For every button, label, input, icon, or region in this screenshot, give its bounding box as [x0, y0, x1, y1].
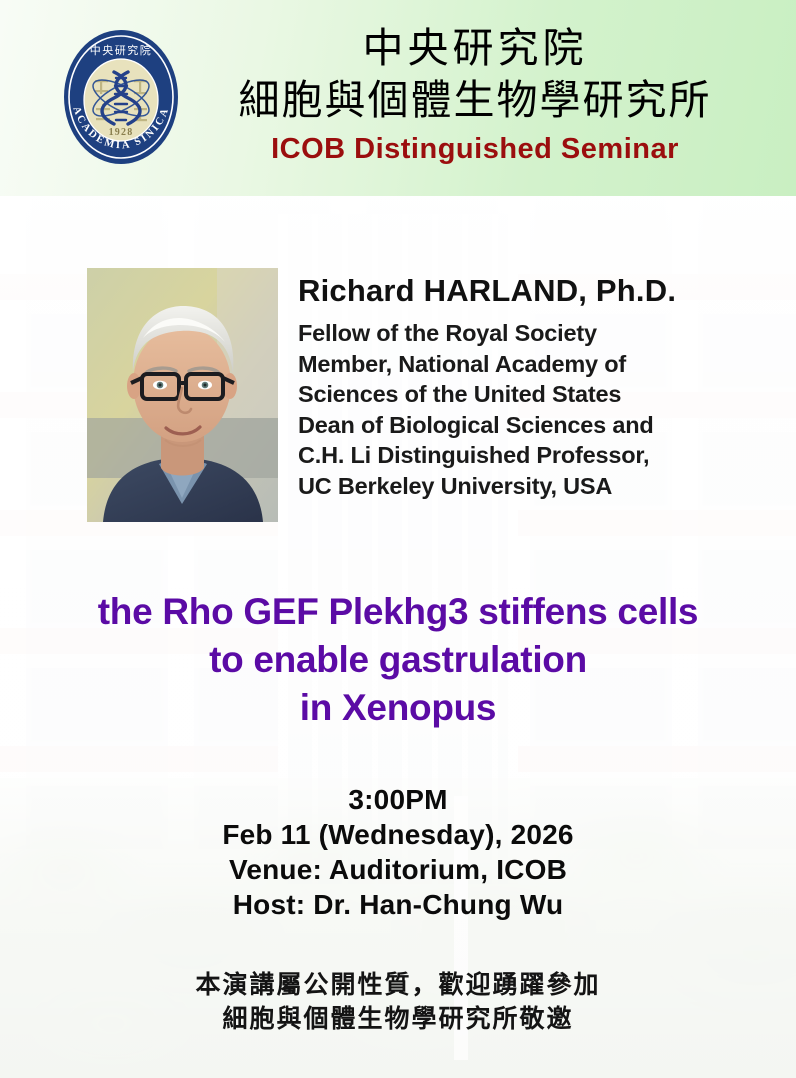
speaker-affiliation-line: C.H. Li Distinguished Professor,: [298, 440, 768, 471]
svg-text:1928: 1928: [109, 127, 134, 138]
speaker-portrait-photo: [87, 268, 278, 522]
talk-title-line: in Xenopus: [0, 684, 796, 732]
speaker-name: Richard HARLAND, Ph.D.: [298, 272, 768, 310]
institution-name-cn-line1: 中央研究院: [195, 22, 755, 74]
svg-text:中央研究院: 中央研究院: [90, 43, 153, 57]
event-venue: Venue: Auditorium, ICOB: [0, 852, 796, 887]
seminar-poster: 1928 中央研究院 ACADEMIA SINICA 中央研究院 細胞與個體生物…: [0, 0, 796, 1078]
academia-sinica-logo-icon: 1928 中央研究院 ACADEMIA SINICA: [62, 28, 180, 166]
institution-name-cn-line2: 細胞與個體生物學研究所: [195, 74, 755, 126]
speaker-affiliation-line: Sciences of the United States: [298, 379, 768, 410]
event-time: 3:00PM: [0, 782, 796, 817]
speaker-info-block: Richard HARLAND, Ph.D. Fellow of the Roy…: [298, 272, 768, 501]
talk-title: the Rho GEF Plekhg3 stiffens cells to en…: [0, 588, 796, 732]
event-details: 3:00PM Feb 11 (Wednesday), 2026 Venue: A…: [0, 782, 796, 922]
event-host: Host: Dr. Han-Chung Wu: [0, 887, 796, 922]
poster-header: 1928 中央研究院 ACADEMIA SINICA 中央研究院 細胞與個體生物…: [0, 0, 796, 196]
speaker-affiliation-line: UC Berkeley University, USA: [298, 471, 768, 502]
speaker-affiliation-line: Dean of Biological Sciences and: [298, 410, 768, 441]
speaker-affiliation-line: Fellow of the Royal Society: [298, 318, 768, 349]
speaker-affiliations: Fellow of the Royal Society Member, Nati…: [298, 318, 768, 501]
seminar-series-label: ICOB Distinguished Seminar: [195, 132, 755, 166]
event-date: Feb 11 (Wednesday), 2026: [0, 817, 796, 852]
talk-title-line: to enable gastrulation: [0, 636, 796, 684]
footer-notice-line2: 細胞與個體生物學研究所敬邀: [0, 1002, 796, 1036]
speaker-affiliation-line: Member, National Academy of: [298, 349, 768, 380]
header-title-block: 中央研究院 細胞與個體生物學研究所 ICOB Distinguished Sem…: [195, 22, 755, 166]
footer-notice-line1: 本演講屬公開性質，歡迎踴躍參加: [0, 968, 796, 1002]
footer-notice: 本演講屬公開性質，歡迎踴躍參加 細胞與個體生物學研究所敬邀: [0, 968, 796, 1036]
talk-title-line: the Rho GEF Plekhg3 stiffens cells: [0, 588, 796, 636]
